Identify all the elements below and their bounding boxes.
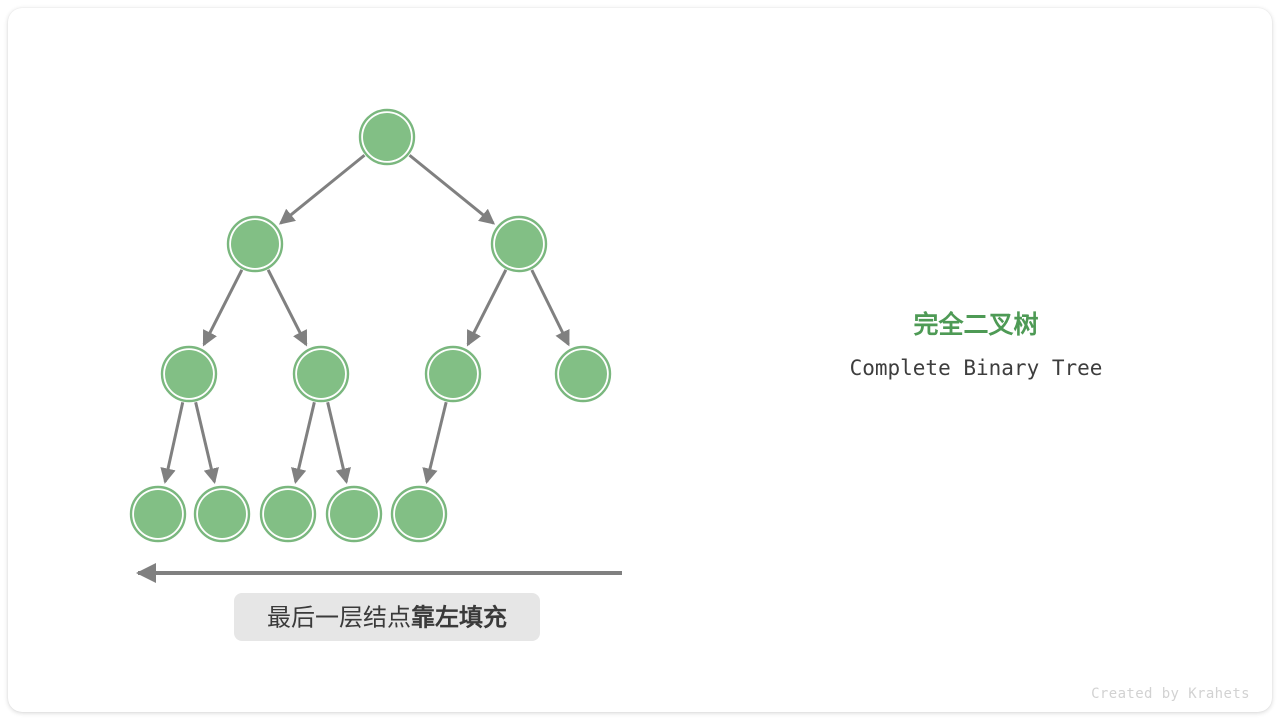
tree-node-disc [363, 113, 411, 161]
tree-node [228, 217, 282, 271]
caption-group: 最后一层结点靠左填充 [234, 593, 540, 641]
tree-edge [165, 402, 183, 481]
tree-node-disc [198, 490, 246, 538]
tree-edge [204, 270, 242, 345]
diagram-card: 最后一层结点靠左填充 完全二叉树 Complete Binary Tree Cr… [8, 8, 1272, 712]
tree-edge [410, 155, 494, 223]
tree-node-disc [495, 220, 543, 268]
caption-plain-run: 最后一层结点 [267, 605, 411, 632]
legend-group: 完全二叉树 Complete Binary Tree [850, 310, 1103, 380]
tree-edge [427, 402, 446, 482]
tree-node [556, 347, 610, 401]
tree-edge [268, 270, 306, 345]
tree-edge [196, 402, 215, 482]
tree-edge [328, 402, 347, 482]
screenshot-root: 最后一层结点靠左填充 完全二叉树 Complete Binary Tree Cr… [0, 0, 1280, 720]
title-english: Complete Binary Tree [850, 356, 1103, 380]
caption-bold-run: 靠左填充 [411, 604, 507, 632]
tree-edge [281, 155, 365, 223]
tree-node-disc [559, 350, 607, 398]
tree-node [195, 487, 249, 541]
binary-tree-diagram: 最后一层结点靠左填充 完全二叉树 Complete Binary Tree Cr… [8, 8, 1272, 712]
tree-node [261, 487, 315, 541]
tree-edge [296, 402, 315, 482]
caption-label: 最后一层结点靠左填充 [267, 604, 507, 632]
tree-node-disc [395, 490, 443, 538]
tree-node-disc [429, 350, 477, 398]
tree-node-disc [134, 490, 182, 538]
tree-edge [468, 270, 506, 345]
tree-node [162, 347, 216, 401]
tree-nodes [131, 110, 610, 541]
tree-node [426, 347, 480, 401]
tree-node [294, 347, 348, 401]
tree-node [360, 110, 414, 164]
tree-node-disc [330, 490, 378, 538]
title-chinese: 完全二叉树 [913, 310, 1038, 339]
tree-node [492, 217, 546, 271]
tree-node-disc [297, 350, 345, 398]
tree-node-disc [264, 490, 312, 538]
tree-edges [165, 155, 568, 482]
tree-node [131, 487, 185, 541]
tree-node-disc [165, 350, 213, 398]
tree-node-disc [231, 220, 279, 268]
tree-edge [532, 270, 569, 344]
tree-node [327, 487, 381, 541]
watermark-credit: Created by Krahets [1091, 686, 1250, 702]
tree-node [392, 487, 446, 541]
